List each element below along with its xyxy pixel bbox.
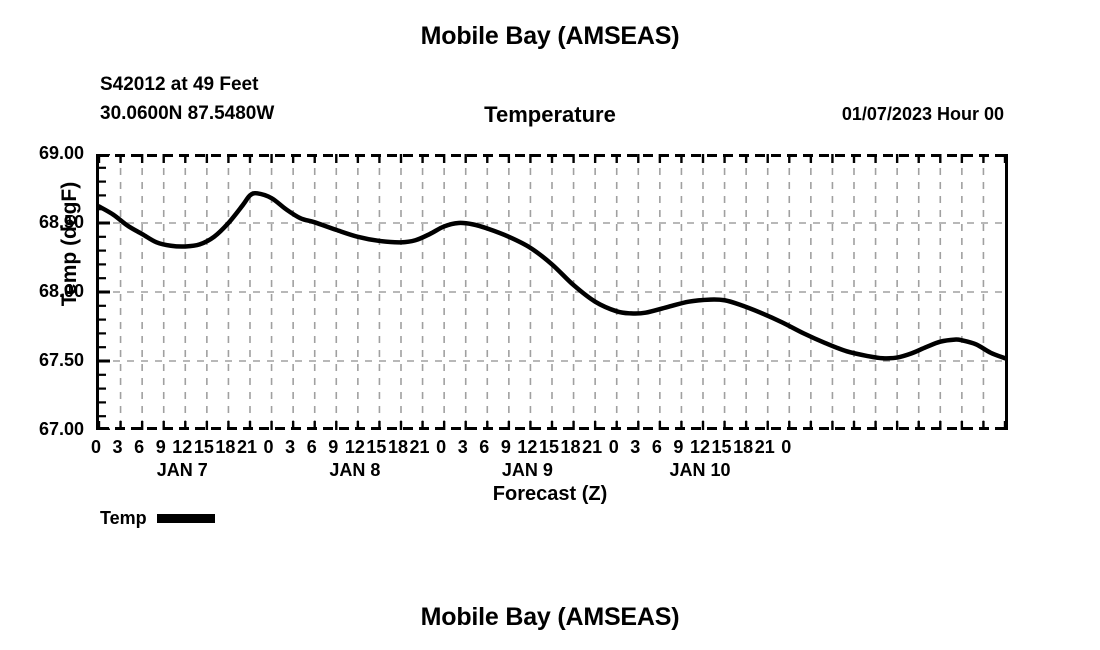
- x-day-label: JAN 10: [620, 460, 780, 481]
- legend-line-swatch: [157, 514, 215, 523]
- station-name: S42012 at 49 Feet: [100, 74, 258, 96]
- chart-canvas: [99, 154, 1005, 430]
- temperature-line: [99, 193, 1005, 358]
- chart-legend: Temp: [100, 508, 215, 529]
- x-tick-label: 0: [766, 437, 806, 458]
- run-datetime: 01/07/2023 Hour 00: [842, 104, 1004, 125]
- legend-label: Temp: [100, 508, 147, 529]
- y-axis-title: Temp (degF): [58, 144, 82, 344]
- x-day-label: JAN 9: [447, 460, 607, 481]
- x-day-label: JAN 8: [275, 460, 435, 481]
- y-tick-label: 68.50: [4, 212, 84, 233]
- footer-title: Mobile Bay (AMSEAS): [0, 603, 1100, 632]
- plot-area: [96, 154, 1008, 430]
- y-tick-label: 68.00: [4, 281, 84, 302]
- x-axis-title: Forecast (Z): [0, 483, 1100, 506]
- page-title: Mobile Bay (AMSEAS): [0, 22, 1100, 51]
- y-tick-label: 67.00: [4, 419, 84, 440]
- y-tick-label: 69.00: [4, 143, 84, 164]
- y-tick-label: 67.50: [4, 350, 84, 371]
- x-day-label: JAN 7: [102, 460, 262, 481]
